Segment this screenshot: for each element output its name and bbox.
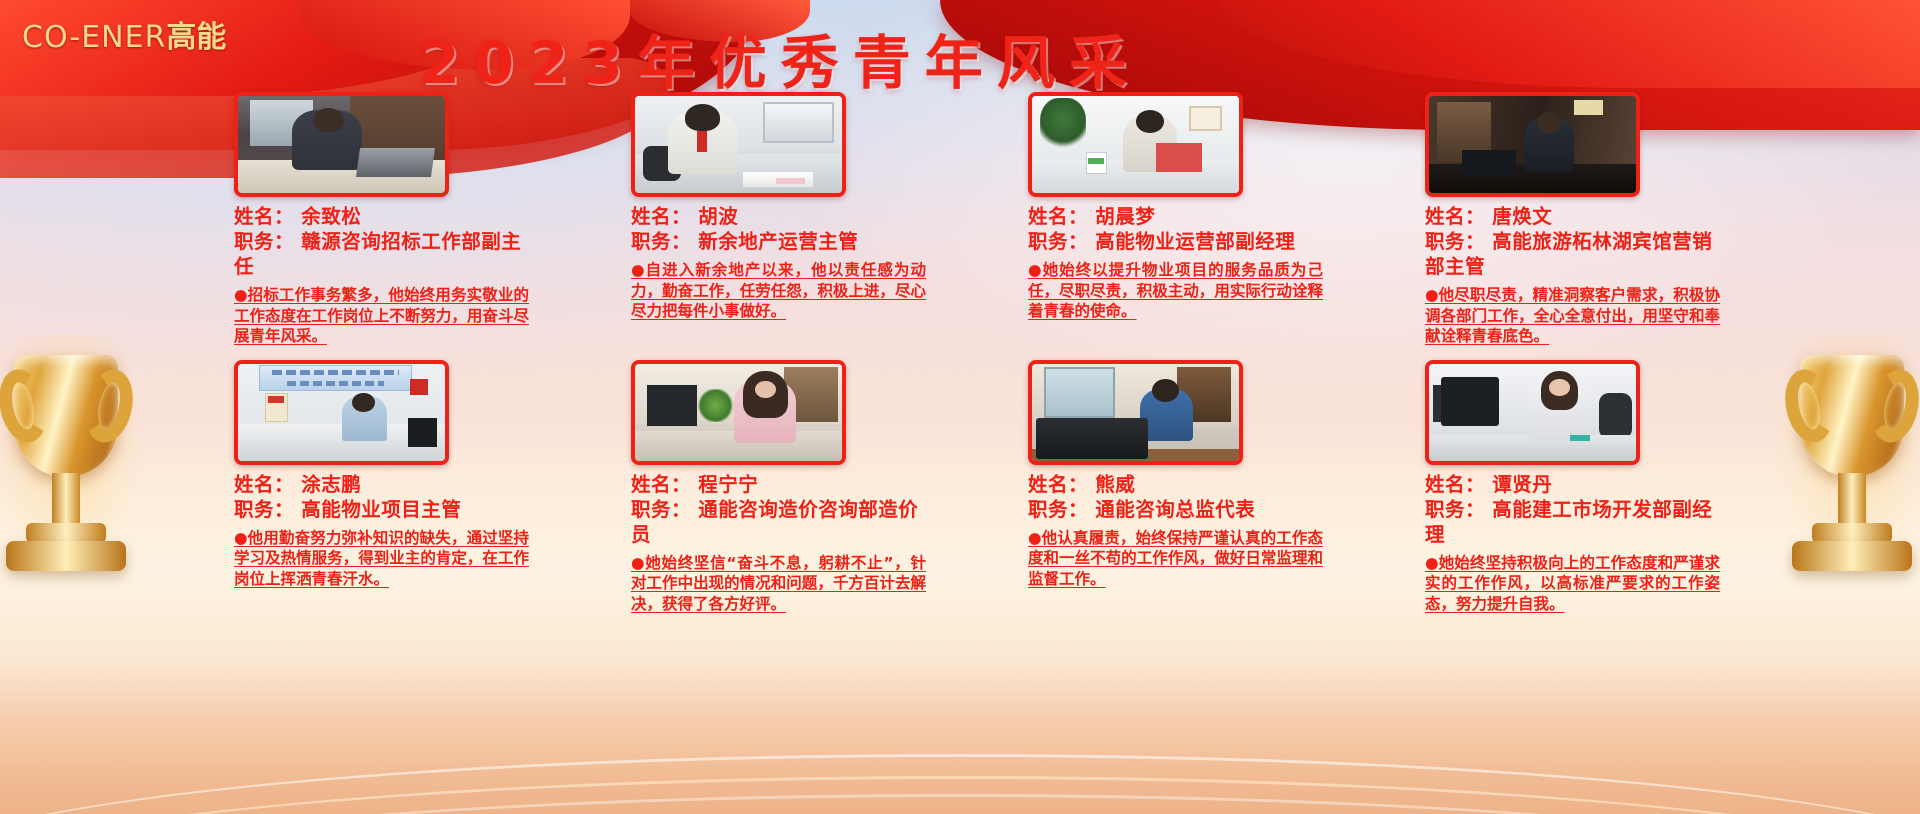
person-name: 姓名： 胡晨梦 (1028, 204, 1323, 229)
person-role: 职务： 通能咨询总监代表 (1028, 497, 1323, 522)
person-card-7: 姓名： 熊威 职务： 通能咨询总监代表 ●他认真履责，始终保持严谨认真的工作态度… (1028, 360, 1323, 615)
page-title: 2023年优秀青年风采 (330, 16, 1230, 100)
person-description: ●他认真履责，始终保持严谨认真的工作态度和一丝不苟的工作作风，做好日常监理和监督… (1028, 528, 1323, 590)
person-card-8: 姓名： 谭贤丹 职务： 高能建工市场开发部副经理 ●她始终坚持积极向上的工作态度… (1425, 360, 1720, 615)
photo-yu-zhisong (234, 92, 449, 197)
ribbon-right-highlight (1220, 0, 1920, 88)
person-card-3: 姓名： 胡晨梦 职务： 高能物业运营部副经理 ●她始终以提升物业项目的服务品质为… (1028, 92, 1323, 347)
person-role: 职务： 赣源咨询招标工作部副主任 (234, 229, 529, 279)
person-role: 职务： 高能建工市场开发部副经理 (1425, 497, 1720, 547)
person-card-1: 姓名： 余致松 职务： 赣源咨询招标工作部副主任 ●招标工作事务繁多，他始终用务… (234, 92, 529, 347)
person-description: ●她始终坚信“奋斗不息，躬耕不止”，针对工作中出现的情况和问题，千方百计去解决，… (631, 553, 926, 615)
company-logo: CO-ENER高能 (22, 12, 226, 56)
person-role: 职务： 新余地产运营主管 (631, 229, 926, 254)
person-role: 职务： 高能物业项目主管 (234, 497, 529, 522)
trophy-icon-right (1778, 355, 1920, 605)
person-name: 姓名： 余致松 (234, 204, 529, 229)
trophy-icon-left (0, 355, 142, 605)
person-card-2: 姓名： 胡波 职务： 新余地产运营主管 ●自进入新余地产以来，他以责任感为动力，… (631, 92, 926, 347)
person-description: ●他尽职尽责，精准洞察客户需求，积极协调各部门工作，全心全意付出，用坚守和奉献诠… (1425, 285, 1720, 347)
person-name: 姓名： 涂志鹏 (234, 472, 529, 497)
logo-chinese-text: 高能 (166, 20, 226, 55)
photo-tan-xiandan (1425, 360, 1640, 465)
photo-tang-huanwen (1425, 92, 1640, 197)
photo-cheng-ningning (631, 360, 846, 465)
person-name: 姓名： 熊威 (1028, 472, 1323, 497)
person-role: 职务： 通能咨询造价咨询部造价员 (631, 497, 926, 547)
person-description: ●她始终坚持积极向上的工作态度和严谨求实的工作作风，以高标准严要求的工作姿态，努… (1425, 553, 1720, 615)
person-card-5: 姓名： 涂志鹏 职务： 高能物业项目主管 ●他用勤奋努力弥补知识的缺失，通过坚持… (234, 360, 529, 615)
person-role: 职务： 高能旅游柘林湖宾馆营销部主管 (1425, 229, 1720, 279)
person-description: ●她始终以提升物业项目的服务品质为己任，尽职尽责，积极主动，用实际行动诠释着青春… (1028, 260, 1323, 322)
person-description: ●自进入新余地产以来，他以责任感为动力，勤奋工作，任劳任怨，积极上进，尽心尽力把… (631, 260, 926, 322)
person-name: 姓名： 胡波 (631, 204, 926, 229)
person-card-6: 姓名： 程宁宁 职务： 通能咨询造价咨询部造价员 ●她始终坚信“奋斗不息，躬耕不… (631, 360, 926, 615)
person-card-4: 姓名： 唐焕文 职务： 高能旅游柘林湖宾馆营销部主管 ●他尽职尽责，精准洞察客户… (1425, 92, 1720, 347)
person-description: ●招标工作事务繁多，他始终用务实敬业的工作态度在工作岗位上不断努力，用奋斗尽展青… (234, 285, 529, 347)
photo-hu-bo (631, 92, 846, 197)
logo-latin-text: CO-ENER (22, 20, 166, 55)
photo-hu-chenmeng (1028, 92, 1243, 197)
bottom-wave-decoration (0, 664, 1920, 814)
person-role: 职务： 高能物业运营部副经理 (1028, 229, 1323, 254)
photo-xiong-wei (1028, 360, 1243, 465)
people-grid: 姓名： 余致松 职务： 赣源咨询招标工作部副主任 ●招标工作事务繁多，他始终用务… (234, 92, 1686, 614)
person-description: ●他用勤奋努力弥补知识的缺失，通过坚持学习及热情服务，得到业主的肯定，在工作岗位… (234, 528, 529, 590)
person-name: 姓名： 程宁宁 (631, 472, 926, 497)
photo-tu-zhipeng (234, 360, 449, 465)
person-name: 姓名： 唐焕文 (1425, 204, 1720, 229)
person-name: 姓名： 谭贤丹 (1425, 472, 1720, 497)
